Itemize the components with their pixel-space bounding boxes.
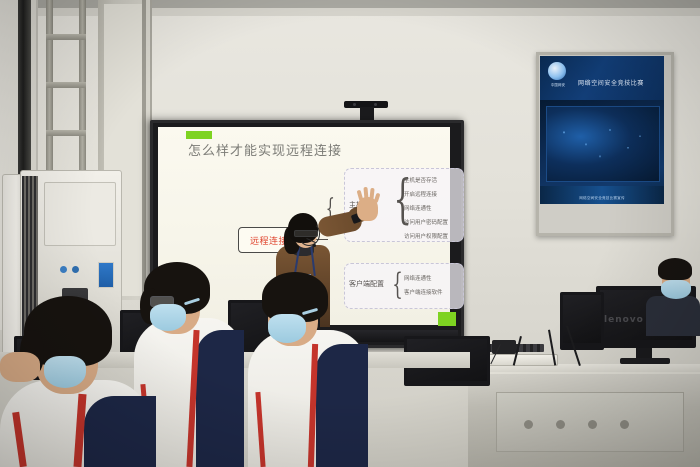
poster-footer-strip bbox=[540, 186, 664, 204]
student-jacket-navy-panel bbox=[84, 396, 156, 467]
podium-vent-hole bbox=[620, 420, 629, 429]
mindmap-root-label: 远程连接 bbox=[250, 234, 288, 247]
ac-indicator-light bbox=[60, 266, 67, 273]
host-item: 访问用户权限配置 bbox=[404, 232, 448, 240]
poster-caption: 网络空间安全竞技比赛宣传 bbox=[552, 196, 652, 201]
face-mask bbox=[661, 280, 691, 299]
podium-vent-hole bbox=[524, 420, 533, 429]
face-mask bbox=[268, 314, 306, 343]
student-jacket-navy-panel bbox=[196, 330, 244, 467]
client-branch-brace: { bbox=[392, 270, 403, 300]
monitor-side bbox=[560, 292, 604, 350]
ac-energy-label bbox=[98, 262, 114, 288]
slide-corner-accent bbox=[438, 312, 456, 326]
podium-vent-hole bbox=[588, 420, 597, 429]
face-mask bbox=[150, 304, 186, 331]
ac-front-panel bbox=[44, 182, 116, 246]
camera-lens-icon bbox=[353, 103, 356, 106]
host-item: 主机是否存活 bbox=[404, 176, 437, 184]
ladder-rung bbox=[46, 82, 86, 88]
man-torso bbox=[646, 296, 700, 336]
student-jacket-navy-panel bbox=[316, 344, 368, 467]
classroom-scene: 中国网安 网络空间安全竞技比赛 网络空间安全竞技比赛宣传 lenovo 怎么样才… bbox=[0, 0, 700, 467]
ac-indicator-light bbox=[72, 266, 79, 273]
slide-highlight-mark bbox=[186, 131, 212, 139]
slide-title: 怎么样才能实现远程连接 bbox=[188, 140, 342, 159]
client-item: 客户端连接软件 bbox=[404, 288, 443, 296]
man-hair bbox=[658, 258, 692, 280]
face-mask bbox=[44, 356, 86, 388]
host-item: 开启远程连接 bbox=[404, 190, 437, 198]
client-config-label: 客户端配置 bbox=[349, 279, 384, 289]
poster-logo-icon bbox=[548, 62, 566, 80]
ladder-rung bbox=[46, 130, 86, 136]
host-item: 访问用户密码配置 bbox=[404, 218, 448, 226]
presenter-hand bbox=[357, 197, 378, 221]
camera-mount bbox=[360, 107, 374, 121]
power-strip bbox=[478, 354, 558, 366]
ladder-rung bbox=[46, 34, 86, 40]
camera-lens-icon bbox=[374, 103, 377, 106]
client-item: 网络连通性 bbox=[404, 274, 432, 282]
host-item: 网络连通性 bbox=[404, 204, 432, 212]
microphone-capsule bbox=[313, 244, 316, 247]
poster-logo-label: 中国网安 bbox=[545, 82, 571, 87]
poster-title: 网络空间安全竞技比赛 bbox=[578, 78, 644, 87]
monitor-brand-label: lenovo bbox=[604, 315, 644, 325]
poster-network-dots bbox=[552, 118, 652, 166]
podium-vent-hole bbox=[556, 420, 565, 429]
student-hand bbox=[0, 352, 40, 382]
headset-microphone-icon bbox=[298, 222, 320, 246]
